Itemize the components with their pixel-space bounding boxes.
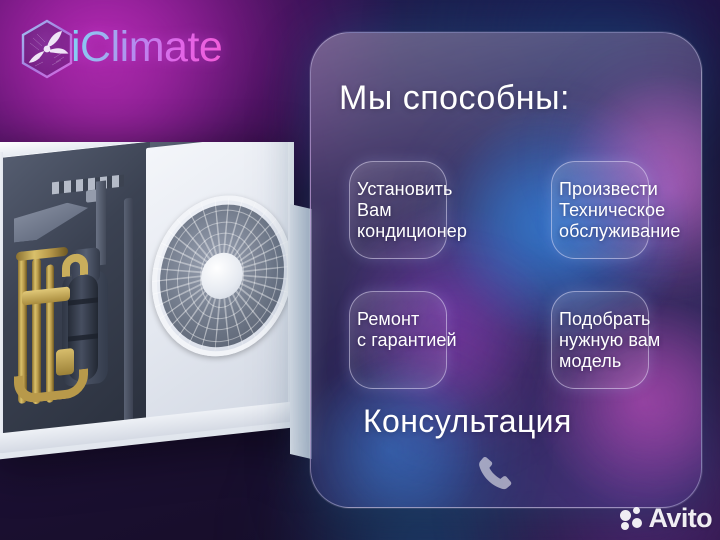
phone-icon[interactable] [475, 453, 517, 495]
feature-label-install-ac: Установить Вам кондиционер [357, 179, 467, 242]
ac-internal-components [0, 142, 288, 448]
hexagon-fan-icon [18, 18, 76, 80]
avito-dots-icon [620, 507, 644, 531]
brand-name: iClimate [71, 26, 222, 72]
avito-watermark: Avito [620, 505, 713, 532]
feature-label-repair-warranty: Ремонт с гарантией [357, 309, 457, 351]
services-glass-card: Мы способны: Установить Вам кондиционер … [310, 32, 702, 508]
ac-unit-photo [0, 142, 312, 472]
feature-label-maintenance: Произвести Техническое обслуживание [559, 179, 681, 242]
avito-wordmark: Avito [649, 505, 713, 532]
brand-logo: iClimate [18, 18, 222, 80]
feature-label-select-model: Подобрать нужную вам модель [559, 309, 660, 372]
consultation-label: Консультация [363, 403, 572, 440]
card-heading: Мы способны: [339, 79, 570, 118]
poster-canvas: iClimate [0, 0, 720, 540]
ac-fan-grille [152, 188, 288, 363]
